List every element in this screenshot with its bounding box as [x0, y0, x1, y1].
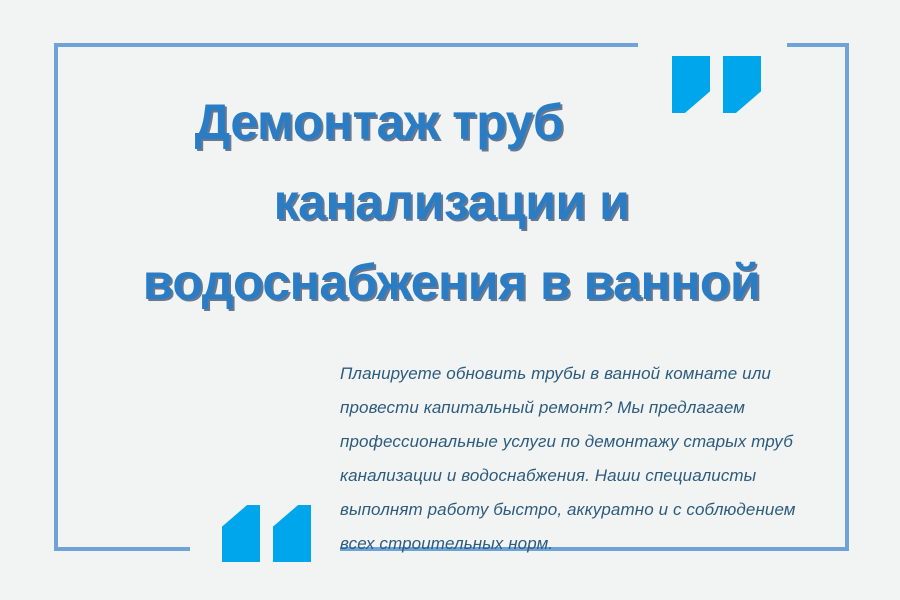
- frame-border-top-left: [54, 43, 638, 47]
- poster-canvas: Демонтаж труб канализации и водоснабжени…: [0, 0, 900, 600]
- frame-border-right: [845, 43, 849, 551]
- quote-mark-icon: [222, 505, 260, 562]
- body-paragraph: Планируете обновить трубы в ванной комна…: [340, 357, 816, 561]
- page-title-line-2: канализации и: [58, 162, 845, 242]
- page-title: Демонтаж труб канализации и водоснабжени…: [58, 82, 845, 322]
- page-title-line-3: водоснабжения в ванной: [58, 242, 845, 322]
- page-title-line-1: Демонтаж труб: [58, 82, 845, 162]
- quote-mark-group-bottom-left: [222, 505, 311, 562]
- quote-mark-icon: [273, 505, 311, 562]
- frame-border-bottom-left: [54, 547, 190, 551]
- frame-border-top-right: [787, 43, 849, 47]
